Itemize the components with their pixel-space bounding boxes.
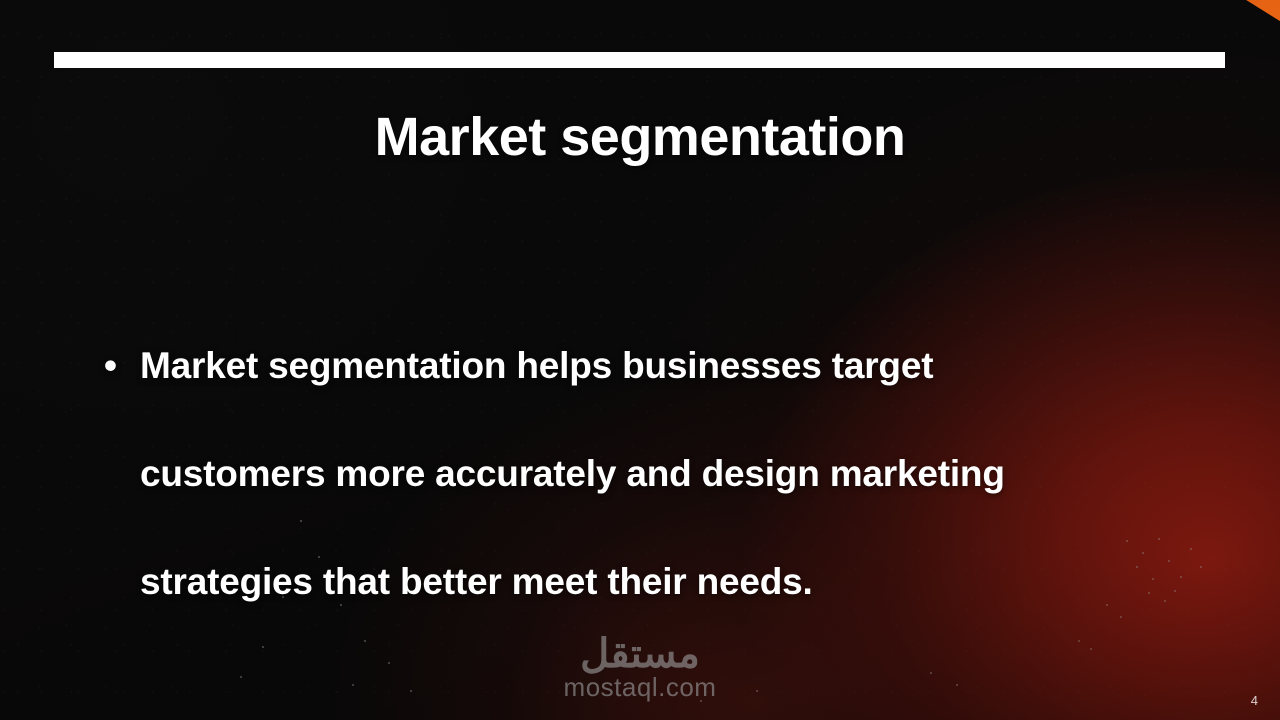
- bullet-line-2: customers more accurately and design mar…: [104, 420, 1194, 528]
- page-title: Market segmentation: [0, 108, 1280, 167]
- slide-number: 4: [1251, 693, 1258, 708]
- body-bullet-list: •Market segmentation helps businesses ta…: [104, 312, 1194, 636]
- presentation-slide: Market segmentation •Market segmentation…: [0, 0, 1280, 720]
- top-divider-rule: [54, 52, 1225, 68]
- bullet-line-3: strategies that better meet their needs.: [104, 528, 1194, 636]
- bullet-marker-icon: •: [104, 312, 140, 420]
- list-item: •Market segmentation helps businesses ta…: [104, 312, 1194, 636]
- bullet-line-1: Market segmentation helps businesses tar…: [140, 345, 933, 386]
